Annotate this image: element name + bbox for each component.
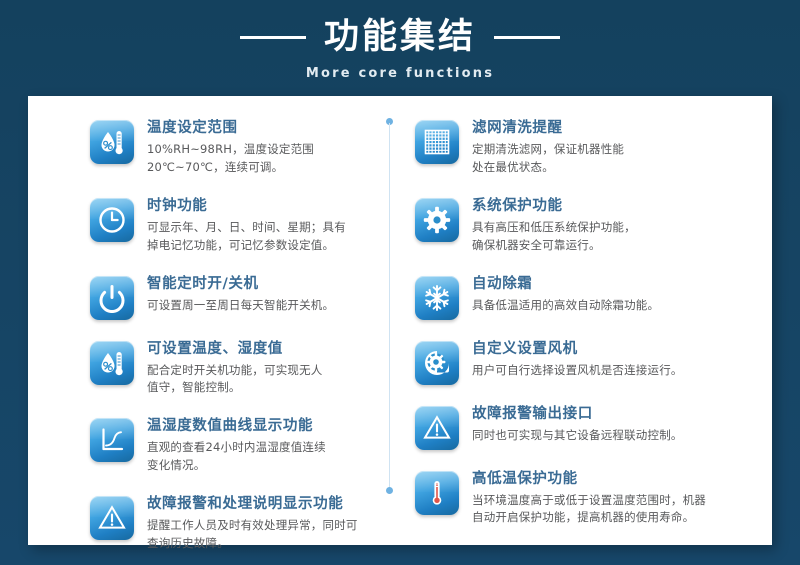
feature-item: 滤网清洗提醒 定期清洗滤网，保证机器性能 处在最优状态。 <box>415 118 772 177</box>
feature-title: 系统保护功能 <box>472 197 636 215</box>
feature-item: 智能定时开/关机 可设置周一至周日每天智能开关机。 <box>90 274 400 320</box>
feature-text: 可设置温度、湿度值 配合定时开关机功能，可实现无人 值守，智能控制。 <box>147 339 323 398</box>
feature-title: 故障报警和处理说明显示功能 <box>147 495 358 513</box>
divider-dot-bottom <box>386 487 393 494</box>
feature-text: 时钟功能 可显示年、月、日、时间、星期；具有 掉电记忆功能，可记忆参数设定值。 <box>147 196 346 255</box>
feature-item: 故障报警输出接口 同时也可实现与其它设备远程联动控制。 <box>415 404 772 450</box>
title-rule-left <box>240 36 306 39</box>
features-panel: 温度设定范围 10%RH~98RH，温度设定范围 20℃~70℃，连续可调。 时… <box>28 96 772 545</box>
title-rule-right <box>494 36 560 39</box>
feature-item: 温度设定范围 10%RH~98RH，温度设定范围 20℃~70℃，连续可调。 <box>90 118 400 177</box>
feature-desc: 提醒工作人员及时有效处理异常，同时可 查询历史故障。 <box>147 517 358 553</box>
feature-desc: 具备低温适用的高效自动除霜功能。 <box>472 297 659 315</box>
feature-title: 智能定时开/关机 <box>147 275 334 293</box>
feature-desc: 用户可自行选择设置风机是否连接运行。 <box>472 362 683 380</box>
page-header: 功能集结 More core functions <box>0 0 800 96</box>
feature-desc: 10%RH~98RH，温度设定范围 20℃~70℃，连续可调。 <box>147 141 314 177</box>
feature-item: 故障报警和处理说明显示功能 提醒工作人员及时有效处理异常，同时可 查询历史故障。 <box>90 494 400 553</box>
feature-text: 故障报警输出接口 同时也可实现与其它设备远程联动控制。 <box>472 404 683 445</box>
feature-text: 故障报警和处理说明显示功能 提醒工作人员及时有效处理异常，同时可 查询历史故障。 <box>147 494 358 553</box>
feature-desc: 具有高压和低压系统保护功能， 确保机器安全可靠运行。 <box>472 219 636 255</box>
feature-text: 温湿度数值曲线显示功能 直观的查看24小时内温湿度值连续 变化情况。 <box>147 416 326 475</box>
feature-desc: 配合定时开关机功能，可实现无人 值守，智能控制。 <box>147 362 323 398</box>
feature-text: 自定义设置风机 用户可自行选择设置风机是否连接运行。 <box>472 339 683 380</box>
feature-title: 高低温保护功能 <box>472 470 706 488</box>
humidity-thermometer-icon <box>90 120 134 164</box>
feature-desc: 可显示年、月、日、时间、星期；具有 掉电记忆功能，可记忆参数设定值。 <box>147 219 346 255</box>
feature-title: 温度设定范围 <box>147 119 314 137</box>
features-left-column: 温度设定范围 10%RH~98RH，温度设定范围 20℃~70℃，连续可调。 时… <box>28 96 400 545</box>
feature-desc: 直观的查看24小时内温湿度值连续 变化情况。 <box>147 439 326 475</box>
feature-item: 时钟功能 可显示年、月、日、时间、星期；具有 掉电记忆功能，可记忆参数设定值。 <box>90 196 400 255</box>
feature-text: 滤网清洗提醒 定期清洗滤网，保证机器性能 处在最优状态。 <box>472 118 624 177</box>
feature-item: 温湿度数值曲线显示功能 直观的查看24小时内温湿度值连续 变化情况。 <box>90 416 400 475</box>
column-divider <box>385 118 394 494</box>
feature-desc: 定期清洗滤网，保证机器性能 处在最优状态。 <box>472 141 624 177</box>
title-row: 功能集结 <box>240 20 560 55</box>
feature-title: 自动除霜 <box>472 275 659 293</box>
feature-title: 温湿度数值曲线显示功能 <box>147 417 326 435</box>
filter-mesh-icon <box>415 120 459 164</box>
feature-text: 自动除霜 具备低温适用的高效自动除霜功能。 <box>472 274 659 315</box>
page-subtitle: More core functions <box>306 66 494 81</box>
feature-title: 时钟功能 <box>147 197 346 215</box>
feature-title: 故障报警输出接口 <box>472 405 683 423</box>
gear-icon <box>415 198 459 242</box>
feature-item: 系统保护功能 具有高压和低压系统保护功能， 确保机器安全可靠运行。 <box>415 196 772 255</box>
curve-chart-icon <box>90 418 134 462</box>
clock-icon <box>90 198 134 242</box>
features-columns: 温度设定范围 10%RH~98RH，温度设定范围 20℃~70℃，连续可调。 时… <box>28 96 772 545</box>
feature-item: 可设置温度、湿度值 配合定时开关机功能，可实现无人 值守，智能控制。 <box>90 339 400 398</box>
blower-fan-icon <box>415 341 459 385</box>
feature-text: 系统保护功能 具有高压和低压系统保护功能， 确保机器安全可靠运行。 <box>472 196 636 255</box>
power-icon <box>90 276 134 320</box>
feature-desc: 当环境温度高于或低于设置温度范围时，机器 自动开启保护功能，提高机器的使用寿命。 <box>472 492 706 528</box>
thermometer-icon <box>415 471 459 515</box>
page-title: 功能集结 <box>324 20 476 55</box>
feature-title: 自定义设置风机 <box>472 340 683 358</box>
warning-triangle-icon <box>90 496 134 540</box>
feature-item: 自动除霜 具备低温适用的高效自动除霜功能。 <box>415 274 772 320</box>
feature-text: 温度设定范围 10%RH~98RH，温度设定范围 20℃~70℃，连续可调。 <box>147 118 314 177</box>
feature-text: 高低温保护功能 当环境温度高于或低于设置温度范围时，机器 自动开启保护功能，提高… <box>472 469 706 528</box>
feature-desc: 可设置周一至周日每天智能开关机。 <box>147 297 334 315</box>
feature-text: 智能定时开/关机 可设置周一至周日每天智能开关机。 <box>147 274 334 315</box>
humidity-thermometer-icon <box>90 341 134 385</box>
warning-triangle-icon <box>415 406 459 450</box>
feature-desc: 同时也可实现与其它设备远程联动控制。 <box>472 427 683 445</box>
page-root: 功能集结 More core functions <box>0 0 800 565</box>
feature-item: 自定义设置风机 用户可自行选择设置风机是否连接运行。 <box>415 339 772 385</box>
feature-title: 可设置温度、湿度值 <box>147 340 323 358</box>
feature-item: 高低温保护功能 当环境温度高于或低于设置温度范围时，机器 自动开启保护功能，提高… <box>415 469 772 528</box>
divider-line <box>389 123 390 489</box>
feature-title: 滤网清洗提醒 <box>472 119 624 137</box>
snowflake-icon <box>415 276 459 320</box>
features-right-column: 滤网清洗提醒 定期清洗滤网，保证机器性能 处在最优状态。 <box>400 96 772 545</box>
